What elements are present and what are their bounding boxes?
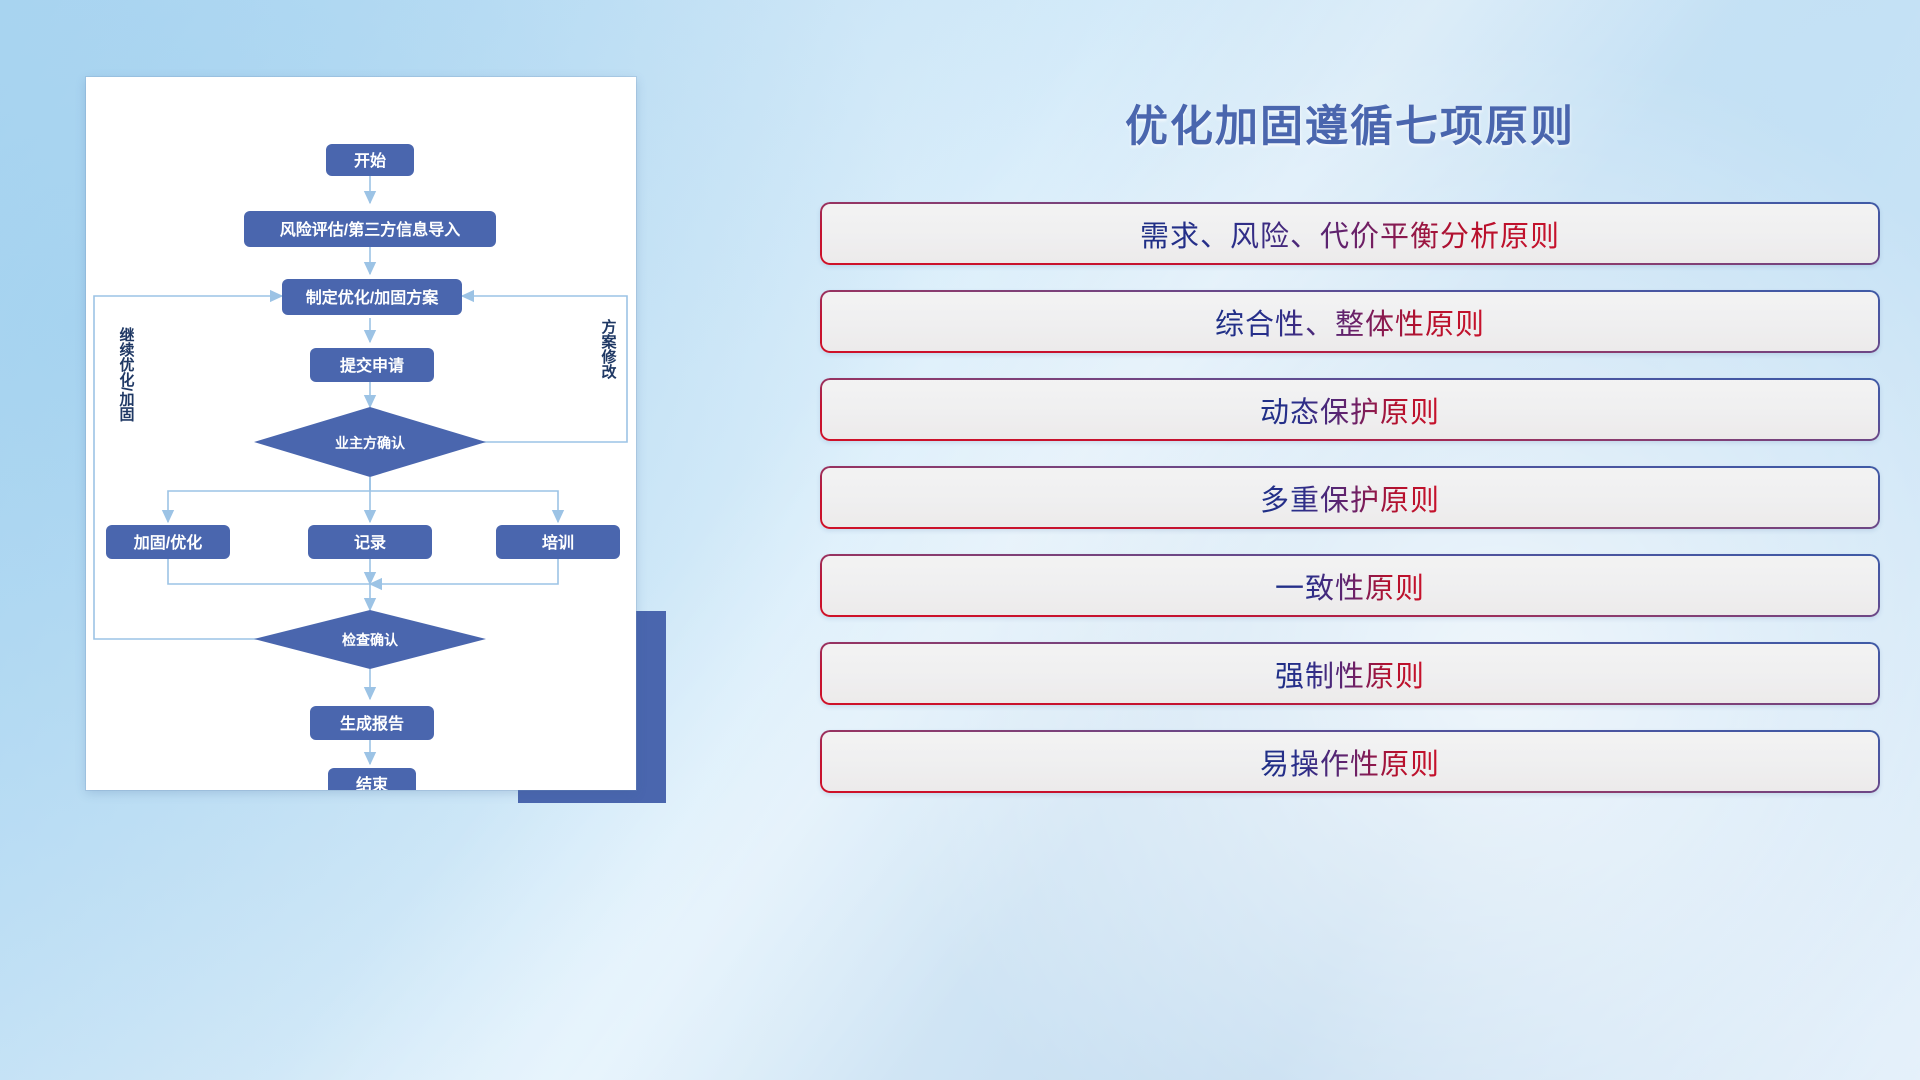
flow-node-owner-confirm[interactable]: 业主方确认 [254,407,486,477]
flow-node-report[interactable]: 生成报告 [310,706,434,740]
slide-canvas: 开始 风险评估/第三方信息导入 制定优化/加固方案 提交申请 [0,0,1920,1080]
principle-item-3[interactable]: 动态保护原则 [820,378,1880,441]
flow-node-label: 提交申请 [340,356,404,375]
page-title: 优化加固遵循七项原则 [820,92,1880,154]
flow-node-label: 加固/优化 [133,533,202,552]
principle-label: 强制性原则 [1275,653,1425,695]
principle-label: 综合性、整体性原则 [1215,301,1485,343]
flow-node-end[interactable]: 结束 [328,768,416,790]
flow-node-label: 业主方确认 [335,435,406,451]
flow-node-label: 制定优化/加固方案 [306,288,439,307]
flow-node-record[interactable]: 记录 [308,525,432,559]
flow-node-label: 培训 [542,533,574,552]
principle-item-1[interactable]: 需求、风险、代价平衡分析原则 [820,202,1880,265]
flow-node-risk[interactable]: 风险评估/第三方信息导入 [244,211,496,247]
flow-node-label: 检查确认 [342,632,399,648]
principle-label: 需求、风险、代价平衡分析原则 [1140,213,1560,255]
principles-list: 需求、风险、代价平衡分析原则 综合性、整体性原则 动态保护原则 多重保护原则 一… [820,202,1880,793]
edge-label-right-loop: 方案修改 [600,318,618,380]
principle-item-6[interactable]: 强制性原则 [820,642,1880,705]
principle-item-7[interactable]: 易操作性原则 [820,730,1880,793]
flow-node-label: 结束 [355,775,389,790]
flowchart-card: 开始 风险评估/第三方信息导入 制定优化/加固方案 提交申请 [86,77,636,790]
flow-node-reinforce[interactable]: 加固/优化 [106,525,230,559]
flow-nodes: 开始 风险评估/第三方信息导入 制定优化/加固方案 提交申请 [106,144,620,790]
principle-label: 易操作性原则 [1260,741,1440,783]
principle-label: 一致性原则 [1275,565,1425,607]
principle-item-5[interactable]: 一致性原则 [820,554,1880,617]
flow-node-label: 开始 [354,151,386,170]
flow-node-label: 生成报告 [340,714,404,733]
principle-item-4[interactable]: 多重保护原则 [820,466,1880,529]
edge-label-left-loop: 继续优化/加固 [118,326,136,422]
flow-node-train[interactable]: 培训 [496,525,620,559]
flow-node-start[interactable]: 开始 [326,144,414,176]
flow-node-check-confirm[interactable]: 检查确认 [254,610,486,669]
principle-label: 动态保护原则 [1260,389,1440,431]
flow-node-submit[interactable]: 提交申请 [310,348,434,382]
flow-node-label: 记录 [354,534,386,552]
principle-item-2[interactable]: 综合性、整体性原则 [820,290,1880,353]
principle-label: 多重保护原则 [1260,477,1440,519]
flow-node-label: 风险评估/第三方信息导入 [280,220,460,239]
flowchart-diagram: 开始 风险评估/第三方信息导入 制定优化/加固方案 提交申请 [86,77,636,790]
flow-node-plan[interactable]: 制定优化/加固方案 [282,279,462,315]
principles-panel: 优化加固遵循七项原则 需求、风险、代价平衡分析原则 综合性、整体性原则 动态保护… [820,70,1880,1030]
